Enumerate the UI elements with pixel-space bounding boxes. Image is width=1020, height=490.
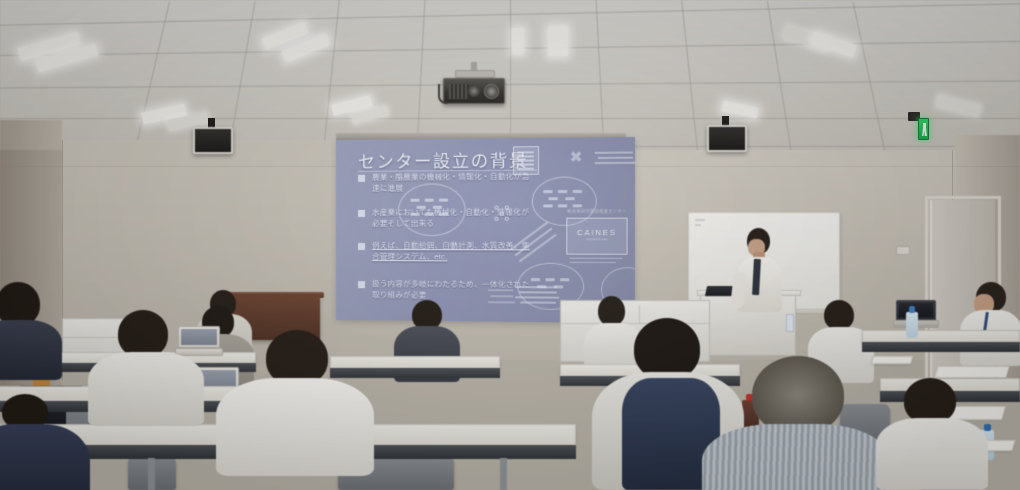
projector-mount: [455, 70, 495, 78]
desk-leg: [148, 458, 155, 490]
diagonal-lines-icon: [511, 244, 563, 275]
attendee-head: [634, 318, 700, 380]
network-node-icon: ✖: [569, 150, 582, 166]
attendee-torso: [0, 424, 90, 490]
projector-cable: [438, 84, 448, 104]
caines-logo-name: CAINES: [567, 228, 626, 237]
document-icon: [513, 146, 539, 175]
caines-logo-subtitle: consortium: [567, 237, 626, 241]
molecule-icon: [494, 206, 511, 222]
paper-stack: [934, 366, 1009, 378]
bottle-cap: [909, 306, 915, 313]
laptop-lid: [178, 326, 220, 348]
whiteboard-mark: [695, 224, 701, 226]
fish-school-circle-icon: [398, 183, 465, 236]
slide-bullet: 例えば、自動給餌、自動計測、水質改善、集合管理システム、etc.: [358, 240, 536, 263]
whiteboard-mark: [695, 219, 705, 221]
attendee-head: [752, 356, 844, 434]
projector-lens-secondary: [468, 85, 480, 97]
podium-panel: [786, 314, 794, 332]
attendee-laptop[interactable]: [178, 326, 220, 356]
exit-sign-icon: [918, 118, 929, 140]
bottle-cap: [984, 424, 991, 431]
desk-leg: [500, 458, 507, 490]
wave-lines-icon: [515, 286, 563, 307]
laptop-base: [175, 348, 223, 356]
projection-screen: センター設立の背景 農業・酪農業の機械化・情報化・自動化が急速に進展 水産業にお…: [336, 137, 635, 323]
slide-title: センター設立の背景: [358, 146, 528, 173]
lecture-hall-photo: 議題 センター設立の背景 農業・酪農業の機械化・情報化・自動化が急速に進展 水産…: [0, 0, 1020, 490]
presenter: [733, 228, 787, 310]
attendee-head: [598, 296, 625, 326]
bullet-square-icon: [358, 281, 365, 288]
bullet-square-icon: [358, 210, 365, 217]
attendee-head: [824, 300, 854, 330]
projector-lens: [484, 84, 499, 99]
ceiling-light: [512, 28, 524, 54]
projector-vent: [449, 84, 469, 99]
desk-front-panel: [330, 368, 500, 378]
bullet-square-icon: [358, 243, 365, 250]
water-bottle[interactable]: [906, 312, 918, 338]
paper-stack: [871, 356, 913, 364]
wave-lines-icon: [595, 151, 635, 168]
bullet-square-icon: [358, 175, 365, 182]
wall-speaker-left: [193, 127, 233, 154]
attendee-torso: [0, 320, 62, 380]
caines-caption: 新技術研究開発推進センター: [567, 208, 626, 214]
laptop-screen: [181, 329, 217, 345]
attendee-head: [118, 310, 168, 358]
caines-logo: CAINES consortium: [566, 218, 627, 255]
ceiling-mounted-projector: [443, 78, 505, 104]
attendee-torso: [216, 378, 374, 476]
ceiling-light: [548, 26, 568, 56]
running-person-icon: [922, 123, 927, 136]
attendee-torso: [88, 352, 204, 426]
wall-speaker-right: [707, 125, 747, 152]
light-switch[interactable]: [896, 246, 910, 255]
attendee-torso: [876, 418, 988, 490]
wave-lines-icon: [488, 289, 519, 306]
desk-front-panel: [862, 342, 1020, 352]
attendee-torso: [702, 424, 890, 490]
